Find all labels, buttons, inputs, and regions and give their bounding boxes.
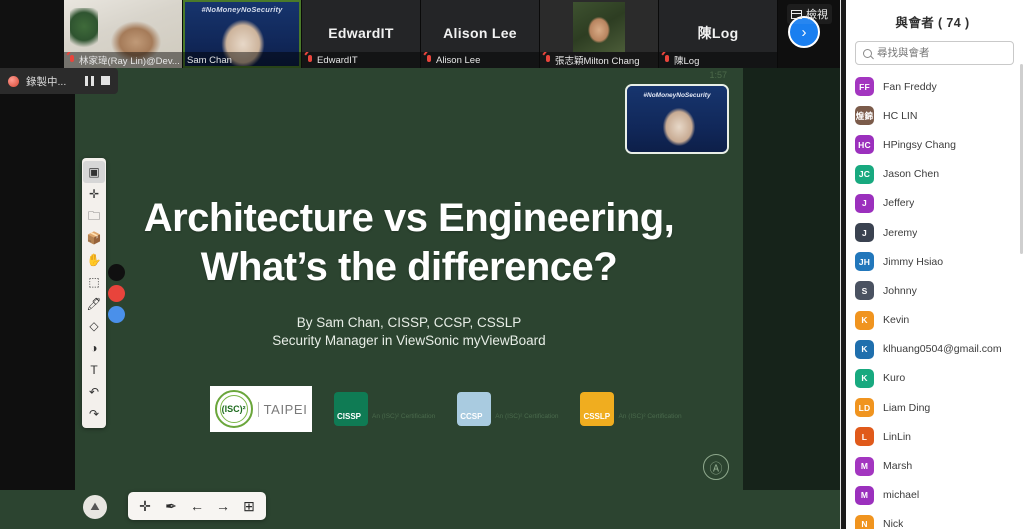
search-icon [863, 49, 872, 58]
slide-title-line1: Architecture vs Engineering, [105, 194, 713, 243]
video-filmstrip: 林家瑋(Ray Lin)@Dev...#NoMoneyNoSecuritySam… [0, 0, 840, 68]
participants-list: FFFan Freddy煌錦HC LINHCHPingsy ChangJCJas… [841, 65, 1024, 529]
pan-icon[interactable]: ✛ [133, 495, 157, 517]
prev-page-icon[interactable]: ← [185, 495, 209, 517]
select-marquee-icon[interactable]: ▣ [83, 161, 105, 183]
recording-controls [85, 76, 110, 86]
participant-name: LinLin [883, 431, 911, 443]
mic-muted-icon [663, 55, 671, 66]
participant-name: Marsh [883, 460, 912, 472]
participant-name: klhuang0504@gmail.com [883, 343, 1002, 355]
participants-scrollbar[interactable] [1020, 64, 1023, 254]
participant-row[interactable]: LLinLin [855, 422, 1024, 451]
participant-name: Jason Chen [883, 168, 939, 180]
next-page-icon[interactable]: → [211, 495, 235, 517]
participant-row[interactable]: FFFan Freddy [855, 72, 1024, 101]
shapes-icon[interactable]: ◑ [83, 337, 105, 359]
video-tile-5[interactable]: 張志穎Milton Chang [540, 0, 659, 68]
video-tile-4[interactable]: Alison LeeAlison Lee [421, 0, 540, 68]
recording-dot-icon [8, 76, 19, 87]
avatar: K [855, 369, 874, 388]
isc2-chapter-label: TAIPEI [258, 402, 308, 417]
participant-name: Nick [883, 518, 903, 529]
presenter-video-pip[interactable]: #NoMoneyNoSecurity [625, 84, 729, 154]
filmstrip-left-pad [0, 0, 64, 68]
avatar: JH [855, 252, 874, 271]
tile-display-name: Alison Lee [439, 26, 521, 41]
cert-badge-tile: CCSP [457, 392, 491, 426]
video-tile-1[interactable]: 林家瑋(Ray Lin)@Dev... [64, 0, 183, 68]
text-icon[interactable]: T [83, 359, 105, 381]
redo-icon[interactable]: ↷ [83, 403, 105, 425]
participant-row[interactable]: KKevin [855, 306, 1024, 335]
slide-title-line2: What’s the difference? [105, 243, 713, 292]
avatar: 煌錦 [855, 106, 874, 125]
mic-muted-icon [544, 55, 552, 66]
participant-name: Jeremy [883, 227, 917, 239]
avatar: LD [855, 398, 874, 417]
stop-recording-icon[interactable] [101, 76, 110, 85]
slide-title: Architecture vs Engineering, What’s the … [75, 194, 743, 292]
participant-name: Johnny [883, 285, 917, 297]
annotator-avatar-icon[interactable]: Ⓐ [703, 454, 729, 480]
color-swatch-palette [108, 264, 125, 323]
participant-name: Liam Ding [883, 402, 930, 414]
participant-name: HC LIN [883, 110, 917, 122]
presenter-backdrop-slogan: #NoMoneyNoSecurity [627, 92, 727, 99]
participant-row[interactable]: Kklhuang0504@gmail.com [855, 335, 1024, 364]
tile-name-label: 張志穎Milton Chang [540, 52, 658, 68]
mic-muted-icon [306, 55, 314, 66]
tile-name-text: 林家瑋(Ray Lin)@Dev... [79, 53, 180, 67]
participant-row[interactable]: 煌錦HC LIN [855, 101, 1024, 130]
folder-icon[interactable]: 🗀 [83, 205, 105, 227]
isc2-seal-icon: (ISC)² [215, 390, 253, 428]
color-swatch-3[interactable] [108, 306, 125, 323]
color-swatch-1[interactable] [108, 264, 125, 281]
avatar: M [855, 486, 874, 505]
cert-badge-note: An (ISC)² Certification [618, 413, 681, 426]
cert-badge-note: An (ISC)² Certification [372, 413, 435, 426]
avatar: K [855, 340, 874, 359]
avatar: HC [855, 135, 874, 154]
board-bottom-area [0, 490, 840, 529]
tile-name-label: Alison Lee [421, 52, 539, 68]
participant-row[interactable]: MMarsh [855, 451, 1024, 480]
whiteboard-tool-palette: ▣✛🗀📦✋⬚🖊◇◑T↶↷ [82, 158, 106, 428]
slide-timer: 1:57 [709, 70, 727, 80]
avatar: J [855, 223, 874, 242]
participant-row[interactable]: JCJason Chen [855, 160, 1024, 189]
whiteboard-bottom-toolbar: ✛✒←→⊞ [128, 492, 266, 520]
tile-headshot [573, 2, 625, 52]
certification-badges: (ISC)² TAIPEI CISSPAn (ISC)² Certificati… [210, 386, 682, 432]
cert-badge-list: CISSPAn (ISC)² CertificationCCSPAn (ISC)… [334, 392, 682, 426]
avatar: J [855, 194, 874, 213]
right-gutter [743, 68, 840, 529]
hand-pan-icon[interactable]: ✋ [83, 249, 105, 271]
participant-name: Kevin [883, 314, 909, 326]
view-layout-button[interactable]: 檢視 [787, 4, 832, 24]
tile-name-text: 陳Log [674, 53, 699, 67]
participant-row[interactable]: HCHPingsy Chang [855, 130, 1024, 159]
participant-row[interactable]: Mmichael [855, 481, 1024, 510]
participant-name: Jimmy Hsiao [883, 256, 943, 268]
lasso-select-icon[interactable]: ⬚ [83, 271, 105, 293]
participant-row[interactable]: SJohnny [855, 276, 1024, 305]
page-thumbnail-button[interactable]: ⛰ [83, 495, 107, 519]
tile-name-text: Alison Lee [436, 55, 480, 66]
tile-name-label: 陳Log [659, 52, 777, 68]
tile-name-label: Sam Chan [183, 52, 301, 68]
presenter-video-frame: #NoMoneyNoSecurity [627, 86, 727, 152]
avatar: JC [855, 165, 874, 184]
cert-badge-csslp: CSSLPAn (ISC)² Certification [580, 392, 681, 426]
isc2-taipei-chapter-logo: (ISC)² TAIPEI [210, 386, 312, 432]
recording-label: 錄製中... [26, 74, 66, 89]
participant-name: michael [883, 489, 919, 501]
move-icon[interactable]: ✛ [83, 183, 105, 205]
cert-badge-tile: CISSP [334, 392, 368, 426]
tile-display-name: EdwardIT [324, 26, 397, 41]
pen-icon[interactable]: 🖊 [83, 293, 105, 315]
search-input[interactable] [877, 47, 1006, 59]
participants-search-box[interactable] [855, 41, 1014, 65]
color-swatch-2[interactable] [108, 285, 125, 302]
slide-subtitle-line1: By Sam Chan, CISSP, CCSP, CSSLP [75, 314, 743, 332]
participant-row[interactable]: KKuro [855, 364, 1024, 393]
participant-row[interactable]: JJeffery [855, 189, 1024, 218]
participants-panel: 與會者 ( 74 ) FFFan Freddy煌錦HC LINHCHPingsy… [840, 0, 1024, 529]
cert-badge-ccsp: CCSPAn (ISC)² Certification [457, 392, 558, 426]
cert-badge-cissp: CISSPAn (ISC)² Certification [334, 392, 435, 426]
participant-row[interactable]: NNick [855, 510, 1024, 529]
panel-left-edge [841, 0, 846, 529]
participant-row[interactable]: JHJimmy Hsiao [855, 247, 1024, 276]
cert-badge-note: An (ISC)² Certification [495, 413, 558, 426]
pause-recording-icon[interactable] [85, 76, 94, 86]
filmstrip-right-area: › 檢視 [778, 0, 840, 68]
tile-name-text: EdwardIT [317, 55, 358, 66]
left-gutter [0, 68, 75, 529]
view-layout-label: 檢視 [806, 6, 828, 22]
mic-muted-icon [425, 55, 433, 66]
slide-subtitle: By Sam Chan, CISSP, CCSP, CSSLP Security… [75, 314, 743, 350]
magic-box-icon[interactable]: 📦 [83, 227, 105, 249]
cert-badge-tile: CSSLP [580, 392, 614, 426]
video-tile-3[interactable]: EdwardITEdwardIT [302, 0, 421, 68]
filmstrip-tiles: 林家瑋(Ray Lin)@Dev...#NoMoneyNoSecuritySam… [64, 0, 778, 68]
avatar: N [855, 515, 874, 529]
avatar: M [855, 457, 874, 476]
eraser-icon[interactable]: ◇ [83, 315, 105, 337]
participant-name: Fan Freddy [883, 81, 937, 93]
tile-display-name: 陳Log [694, 26, 743, 41]
tile-name-label: 林家瑋(Ray Lin)@Dev... [64, 52, 182, 68]
participant-name: Kuro [883, 372, 905, 384]
participant-row[interactable]: LDLiam Ding [855, 393, 1024, 422]
slide-subtitle-line2: Security Manager in ViewSonic myViewBoar… [75, 332, 743, 350]
avatar: FF [855, 77, 874, 96]
recording-indicator-bar: 錄製中... [0, 68, 118, 94]
tile-name-label: EdwardIT [302, 52, 420, 68]
tile-backdrop-slogan: #NoMoneyNoSecurity [183, 5, 301, 14]
video-tile-6[interactable]: 陳Log陳Log [659, 0, 778, 68]
participants-title: 與會者 ( 74 ) [841, 0, 1024, 41]
participant-name: HPingsy Chang [883, 139, 956, 151]
participants-search-wrap [841, 41, 1024, 65]
mic-muted-icon [68, 55, 76, 66]
avatar: S [855, 281, 874, 300]
tile-name-text: Sam Chan [187, 55, 232, 66]
avatar: K [855, 311, 874, 330]
undo-icon[interactable]: ↶ [83, 381, 105, 403]
zoom-meeting-window: 林家瑋(Ray Lin)@Dev...#NoMoneyNoSecuritySam… [0, 0, 1024, 529]
video-tile-2[interactable]: #NoMoneyNoSecuritySam Chan [183, 0, 302, 68]
participant-name: Jeffery [883, 197, 914, 209]
add-page-icon[interactable]: ⊞ [237, 495, 261, 517]
avatar: L [855, 427, 874, 446]
tile-name-text: 張志穎Milton Chang [555, 53, 639, 67]
participant-row[interactable]: JJeremy [855, 218, 1024, 247]
pen-icon[interactable]: ✒ [159, 495, 183, 517]
shared-whiteboard-slide[interactable]: 1:57 Architecture vs Engineering, What’s… [75, 68, 743, 490]
grid-view-icon [791, 10, 802, 19]
